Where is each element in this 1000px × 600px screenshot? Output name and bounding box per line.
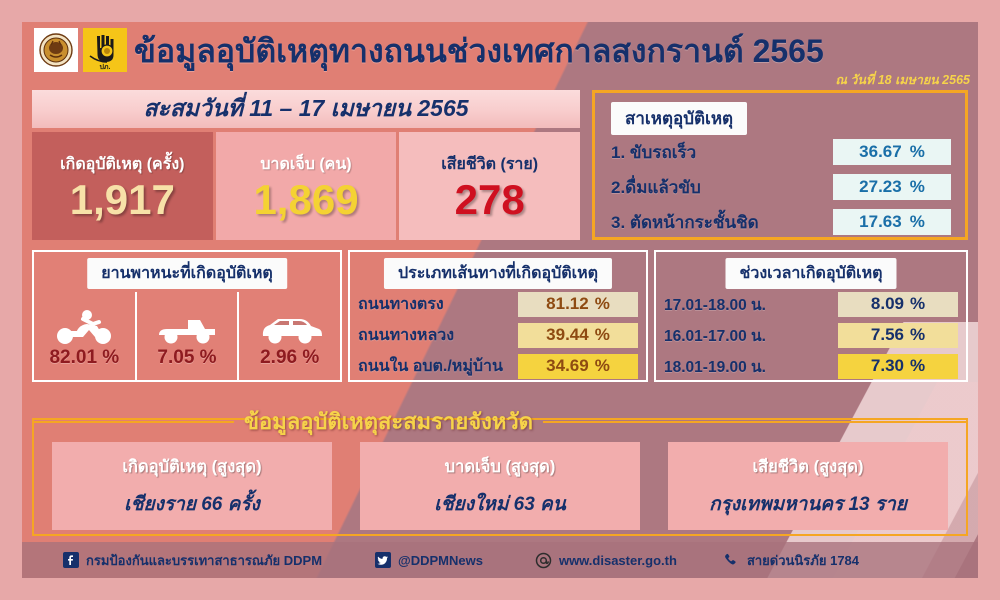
times-list: 17.01-18.00 น. 8.09 % 16.01-17.00 น. 7.5… (664, 290, 958, 383)
cause-unit: % (910, 177, 925, 197)
road-label: ถนนทางตรง (358, 292, 518, 317)
footer-item-facebook[interactable]: กรมป้องกันและบรรเทาสาธารณภัย DDPM (62, 550, 322, 571)
time-value-badge: 8.09 % (838, 292, 958, 317)
royal-thai-government-emblem-icon (34, 28, 78, 72)
province-card-header: เสียชีวิต (สูงสุด) (752, 454, 863, 480)
stat-value: 278 (455, 179, 525, 221)
road-unit: % (595, 356, 610, 376)
province-section: ข้อมูลอุบัติเหตุสะสมรายจังหวัด เกิดอุบัต… (32, 418, 968, 536)
causes-panel-title: สาเหตุอุบัติเหตุ (611, 102, 747, 135)
vehicle-percent: 82.01 % (49, 347, 119, 369)
road-value-badge: 34.69 % (518, 354, 638, 379)
vehicle-cell-motorcycle: 82.01 % (34, 292, 135, 380)
time-label: 16.01-17.00 น. (664, 323, 838, 348)
vehicle-cell-car: 2.96 % (237, 292, 340, 380)
road-types-panel: ประเภทเส้นทางที่เกิดอุบัติเหตุ ถนนทางตรง… (348, 250, 648, 382)
content-layer: ปภ. ข้อมูลอุบัติเหตุทางถนนช่วงเทศกาลสงกร… (22, 22, 978, 578)
date-range-banner: สะสมวันที่ 11 – 17 เมษายน 2565 (32, 90, 580, 128)
times-panel-title: ช่วงเวลาเกิดอุบัติเหตุ (725, 258, 896, 289)
road-value: 81.12 (546, 294, 589, 314)
at-sign-icon (535, 552, 552, 569)
accident-causes-panel: สาเหตุอุบัติเหตุ 1. ขับรถเร็ว 36.67 % 2.… (592, 90, 968, 240)
heading-rule-right (543, 421, 966, 423)
road-value: 39.44 (546, 325, 589, 345)
stat-card-accidents: เกิดอุบัติเหตุ (ครั้ง) 1,917 (32, 132, 213, 240)
vehicle-types-panel: ยานพาหนะที่เกิดอุบัติเหตุ (32, 250, 342, 382)
footer-contact-bar: กรมป้องกันและบรรเทาสาธารณภัย DDPM @DDPMN… (22, 542, 978, 578)
province-heading-text: ข้อมูลอุบัติเหตุสะสมรายจังหวัด (244, 404, 533, 439)
time-label: 17.01-18.00 น. (664, 292, 838, 317)
ddpm-hand-logo-icon: ปภ. (83, 28, 127, 72)
time-row: 17.01-18.00 น. 8.09 % (664, 290, 958, 318)
stat-card-injured: บาดเจ็บ (คน) 1,869 (216, 132, 397, 240)
cause-value-badge: 27.23 % (833, 174, 951, 200)
ddpm-logo-caption: ปภ. (99, 63, 110, 70)
time-value: 7.30 (871, 356, 904, 376)
vehicle-cell-pickup: 7.05 % (135, 292, 238, 380)
footer-item-website[interactable]: www.disaster.go.th (535, 552, 677, 569)
road-label: ถนนใน อบต./หมู่บ้าน (358, 354, 518, 379)
stat-label: เกิดอุบัติเหตุ (ครั้ง) (60, 152, 184, 177)
time-value: 7.56 (871, 325, 904, 345)
pickup-truck-icon (155, 303, 219, 345)
time-value-badge: 7.56 % (838, 323, 958, 348)
accident-time-panel: ช่วงเวลาเกิดอุบัติเหตุ 17.01-18.00 น. 8.… (654, 250, 968, 382)
road-value: 34.69 (546, 356, 589, 376)
cause-unit: % (910, 142, 925, 162)
province-card-value: กรุงเทพมหานคร 13 ราย (709, 489, 907, 519)
vehicles-panel-title: ยานพาหนะที่เกิดอุบัติเหตุ (87, 258, 287, 289)
cause-label: 3. ตัดหน้ากระชั้นชิด (611, 209, 833, 236)
road-row: ถนนทางหลวง 39.44 % (358, 321, 638, 349)
time-label: 18.01-19.00 น. (664, 354, 838, 379)
province-heading: ข้อมูลอุบัติเหตุสะสมรายจังหวัด (34, 404, 966, 439)
date-range-text: สะสมวันที่ 11 – 17 เมษายน 2565 (143, 91, 468, 127)
cause-label: 1. ขับรถเร็ว (611, 139, 833, 166)
infographic-root: ปภ. ข้อมูลอุบัติเหตุทางถนนช่วงเทศกาลสงกร… (0, 0, 1000, 600)
footer-item-twitter[interactable]: @DDPMNews (374, 552, 483, 569)
causes-list: 1. ขับรถเร็ว 36.67 % 2.ดื่มแล้วขับ 27.23… (611, 137, 951, 242)
phone-icon (723, 552, 740, 569)
province-card-header: บาดเจ็บ (สูงสุด) (445, 454, 556, 480)
footer-text: สายด่วนนิรภัย 1784 (747, 550, 859, 571)
vehicle-percent: 7.05 % (157, 347, 216, 369)
twitter-icon (374, 552, 391, 569)
stat-label: บาดเจ็บ (คน) (260, 152, 351, 177)
road-row: ถนนทางตรง 81.12 % (358, 290, 638, 318)
footer-item-hotline[interactable]: สายด่วนนิรภัย 1784 (723, 550, 859, 571)
cause-label: 2.ดื่มแล้วขับ (611, 174, 833, 201)
vehicle-cells: 82.01 % 7.05 % (34, 292, 340, 380)
page-title: ข้อมูลอุบัติเหตุทางถนนช่วงเทศกาลสงกรานต์… (134, 26, 824, 77)
province-card-deaths: เสียชีวิต (สูงสุด) กรุงเทพมหานคร 13 ราย (668, 442, 948, 530)
road-label: ถนนทางหลวง (358, 323, 518, 348)
cause-value: 17.63 (859, 212, 902, 232)
cause-value-badge: 17.63 % (833, 209, 951, 235)
time-value-badge: 7.30 % (838, 354, 958, 379)
road-value-badge: 39.44 % (518, 323, 638, 348)
province-card-value: เชียงราย 66 ครั้ง (124, 489, 260, 519)
province-cards: เกิดอุบัติเหตุ (สูงสุด) เชียงราย 66 ครั้… (34, 442, 966, 530)
roads-list: ถนนทางตรง 81.12 % ถนนทางหลวง 39.44 % (358, 290, 638, 383)
cause-row: 2.ดื่มแล้วขับ 27.23 % (611, 172, 951, 202)
stat-card-deaths: เสียชีวิต (ราย) 278 (399, 132, 580, 240)
road-value-badge: 81.12 % (518, 292, 638, 317)
as-of-date: ณ วันที่ 18 เมษายน 2565 (835, 70, 970, 90)
stat-value: 1,917 (70, 179, 175, 221)
time-row: 18.01-19.00 น. 7.30 % (664, 352, 958, 380)
time-value: 8.09 (871, 294, 904, 314)
logo-group: ปภ. (34, 28, 127, 72)
cause-row: 1. ขับรถเร็ว 36.67 % (611, 137, 951, 167)
footer-text: @DDPMNews (398, 553, 483, 568)
cause-value-badge: 36.67 % (833, 139, 951, 165)
time-unit: % (910, 325, 925, 345)
poster-canvas: ปภ. ข้อมูลอุบัติเหตุทางถนนช่วงเทศกาลสงกร… (22, 22, 978, 578)
footer-text: www.disaster.go.th (559, 553, 677, 568)
motorcycle-icon (53, 303, 115, 345)
mid-panels: ยานพาหนะที่เกิดอุบัติเหตุ (32, 250, 968, 382)
stat-label: เสียชีวิต (ราย) (441, 152, 538, 177)
time-unit: % (910, 356, 925, 376)
car-icon (258, 303, 322, 345)
summary-stats: เกิดอุบัติเหตุ (ครั้ง) 1,917 บาดเจ็บ (คน… (32, 132, 580, 240)
heading-rule-left (34, 421, 234, 423)
time-row: 16.01-17.00 น. 7.56 % (664, 321, 958, 349)
road-unit: % (595, 325, 610, 345)
province-card-value: เชียงใหม่ 63 คน (434, 489, 566, 519)
road-unit: % (595, 294, 610, 314)
road-row: ถนนใน อบต./หมู่บ้าน 34.69 % (358, 352, 638, 380)
province-card-injured: บาดเจ็บ (สูงสุด) เชียงใหม่ 63 คน (360, 442, 640, 530)
stat-value: 1,869 (253, 179, 358, 221)
cause-row: 3. ตัดหน้ากระชั้นชิด 17.63 % (611, 207, 951, 237)
cause-unit: % (910, 212, 925, 232)
province-card-accidents: เกิดอุบัติเหตุ (สูงสุด) เชียงราย 66 ครั้… (52, 442, 332, 530)
footer-text: กรมป้องกันและบรรเทาสาธารณภัย DDPM (86, 550, 322, 571)
cause-value: 27.23 (859, 177, 902, 197)
province-card-header: เกิดอุบัติเหตุ (สูงสุด) (122, 454, 261, 480)
roads-panel-title: ประเภทเส้นทางที่เกิดอุบัติเหตุ (384, 258, 612, 289)
time-unit: % (910, 294, 925, 314)
header: ปภ. ข้อมูลอุบัติเหตุทางถนนช่วงเทศกาลสงกร… (22, 22, 978, 88)
vehicle-percent: 2.96 % (260, 347, 319, 369)
cause-value: 36.67 (859, 142, 902, 162)
facebook-icon (62, 552, 79, 569)
